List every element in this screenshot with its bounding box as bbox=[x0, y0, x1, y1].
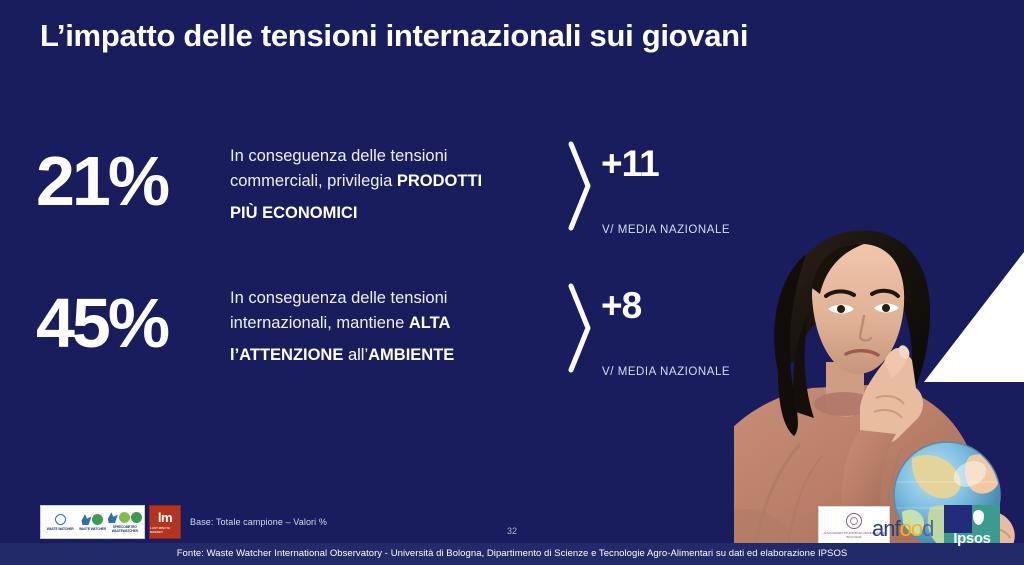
anfood-suffix: d bbox=[922, 516, 933, 541]
desc-line-2-bold: ALTA bbox=[409, 314, 451, 332]
slide-root: L’impatto delle tensioni internazionali … bbox=[0, 0, 1024, 565]
anfood-mark-icon: oo bbox=[900, 516, 922, 541]
chevron-right-icon bbox=[566, 140, 596, 232]
cop-seal-icon bbox=[55, 512, 66, 527]
desc-line-1: In conseguenza delle tensioni bbox=[230, 147, 447, 165]
anfood-prefix: anf bbox=[872, 516, 900, 541]
page-title: L’impatto delle tensioni internazionali … bbox=[40, 18, 748, 54]
stat-delta-label: V/ MEDIA NAZIONALE bbox=[602, 366, 730, 378]
desc-line-3-light: all’ bbox=[343, 346, 368, 364]
desc-line-3-bold: l’ATTENZIONE bbox=[230, 346, 343, 364]
desc-line-2-light: commerciali, privilegia bbox=[230, 172, 397, 190]
sprecometro-icon bbox=[108, 510, 142, 525]
stat-delta: +8 bbox=[601, 284, 641, 328]
stat-delta: +11 bbox=[601, 142, 659, 186]
stat-delta-label: V/ MEDIA NAZIONALE bbox=[602, 224, 730, 236]
lm-mark: lm bbox=[158, 510, 172, 525]
stat-percentage: 21% bbox=[36, 138, 221, 224]
desc-line-2-light: internazionali, mantiene bbox=[230, 314, 409, 332]
stat-row: 21% In conseguenza delle tensioni commer… bbox=[36, 138, 796, 258]
anfood-logo: anfood bbox=[872, 518, 933, 540]
stat-description: In conseguenza delle tensioni commercial… bbox=[230, 144, 560, 226]
waste-watcher-icon bbox=[81, 512, 103, 527]
source-text: Fonte: Waste Watcher International Obser… bbox=[0, 548, 1024, 559]
ipsos-drop-icon bbox=[973, 510, 984, 525]
ipsos-mark-icon bbox=[944, 505, 972, 533]
stat-row: 45% In conseguenza delle tensioni intern… bbox=[36, 280, 796, 400]
source-bar: Fonte: Waste Watcher International Obser… bbox=[0, 543, 1024, 565]
stat-percentage: 45% bbox=[36, 280, 221, 366]
chevron-right-icon bbox=[566, 282, 596, 374]
desc-line-3-bold2: AMBIENTE bbox=[368, 346, 454, 364]
unibo-seal-icon bbox=[846, 513, 862, 529]
desc-line-1: In conseguenza delle tensioni bbox=[230, 289, 447, 307]
desc-line-3-bold: PIÙ ECONOMICI bbox=[230, 204, 357, 222]
stat-description: In conseguenza delle tensioni internazio… bbox=[230, 286, 560, 368]
ipsos-label: Ipsos bbox=[953, 530, 990, 547]
desc-line-3: l’ATTENZIONE all’AMBIENTE bbox=[230, 343, 560, 368]
desc-line-2-bold: PRODOTTI bbox=[397, 172, 482, 190]
desc-line-3: PIÙ ECONOMICI bbox=[230, 201, 560, 226]
